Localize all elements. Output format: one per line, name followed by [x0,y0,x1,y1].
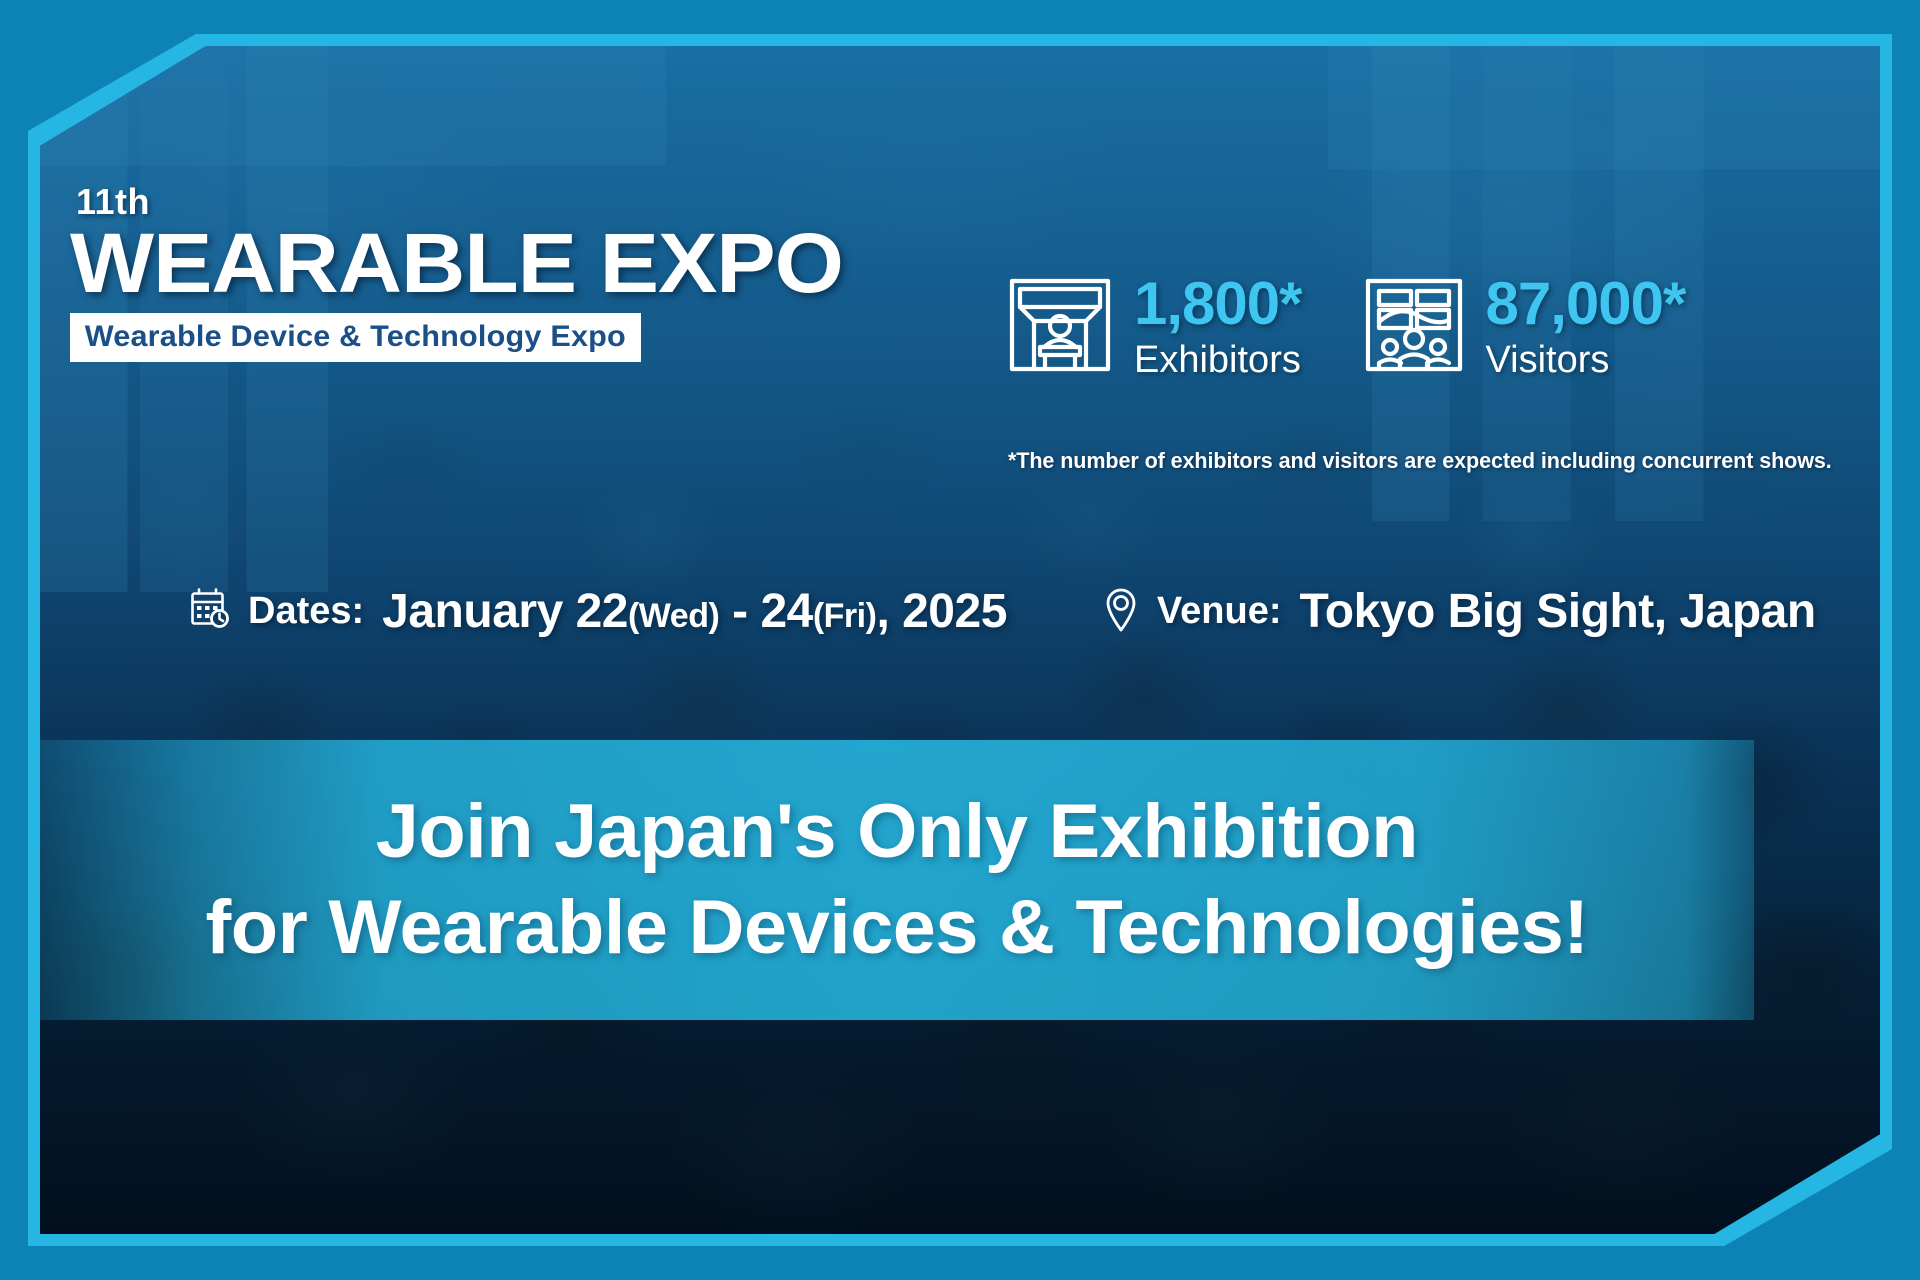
stat-visitors: 87,000* Visitors [1364,274,1686,382]
stat-exhibitors-text: 1,800* Exhibitors [1134,274,1302,382]
venue-label: Venue: [1157,590,1282,633]
dates-month-day: January 22 [382,585,628,638]
venue-value: Tokyo Big Sight, Japan [1300,584,1816,639]
dates-day2: 24 [760,585,812,638]
stat-exhibitors-label: Exhibitors [1134,340,1302,382]
stat-visitors-label: Visitors [1486,340,1686,382]
event-subtitle-bar: Wearable Device & Technology Expo [70,313,641,362]
statistics-row: 1,800* Exhibitors [1008,274,1685,382]
info-venue: Venue: Tokyo Big Sight, Japan [1103,584,1816,639]
dates-day2-weekday: (Fri) [813,597,877,635]
event-logo: 11th WEARABLE EXPO Wearable Device & Tec… [70,184,799,362]
dates-year: , 2025 [876,585,1006,638]
event-title: WEARABLE EXPO [70,224,843,303]
stat-exhibitors: 1,800* Exhibitors [1008,274,1302,382]
stat-visitors-number: 87,000* [1486,274,1686,334]
stat-visitors-text: 87,000* Visitors [1486,274,1686,382]
statistics-footnote: *The number of exhibitors and visitors a… [1008,448,1832,474]
location-pin-icon [1103,586,1139,637]
dates-day1-weekday: (Wed) [628,597,719,635]
event-info-row: Dates: January 22(Wed) - 24(Fri), 2025 V… [190,584,1816,639]
dates-dash: - [719,585,760,638]
dates-label: Dates: [248,590,364,633]
event-subtitle: Wearable Device & Technology Expo [85,320,626,354]
headline-line-2: for Wearable Devices & Technologies! [205,883,1588,973]
headline-line-1: Join Japan's Only Exhibition [376,787,1418,877]
edition-ordinal: 11th [76,184,799,220]
dates-value: January 22(Wed) - 24(Fri), 2025 [382,584,1007,639]
expo-promo-banner: 11th WEARABLE EXPO Wearable Device & Tec… [0,0,1920,1280]
headline-block: Join Japan's Only Exhibition for Wearabl… [40,740,1754,1020]
banner-content-window: 11th WEARABLE EXPO Wearable Device & Tec… [40,46,1880,1234]
exhibitor-booth-icon [1008,277,1112,378]
info-dates: Dates: January 22(Wed) - 24(Fri), 2025 [190,584,1007,639]
visitors-audience-icon [1364,277,1464,378]
calendar-clock-icon [190,588,230,635]
stat-exhibitors-number: 1,800* [1134,274,1302,334]
